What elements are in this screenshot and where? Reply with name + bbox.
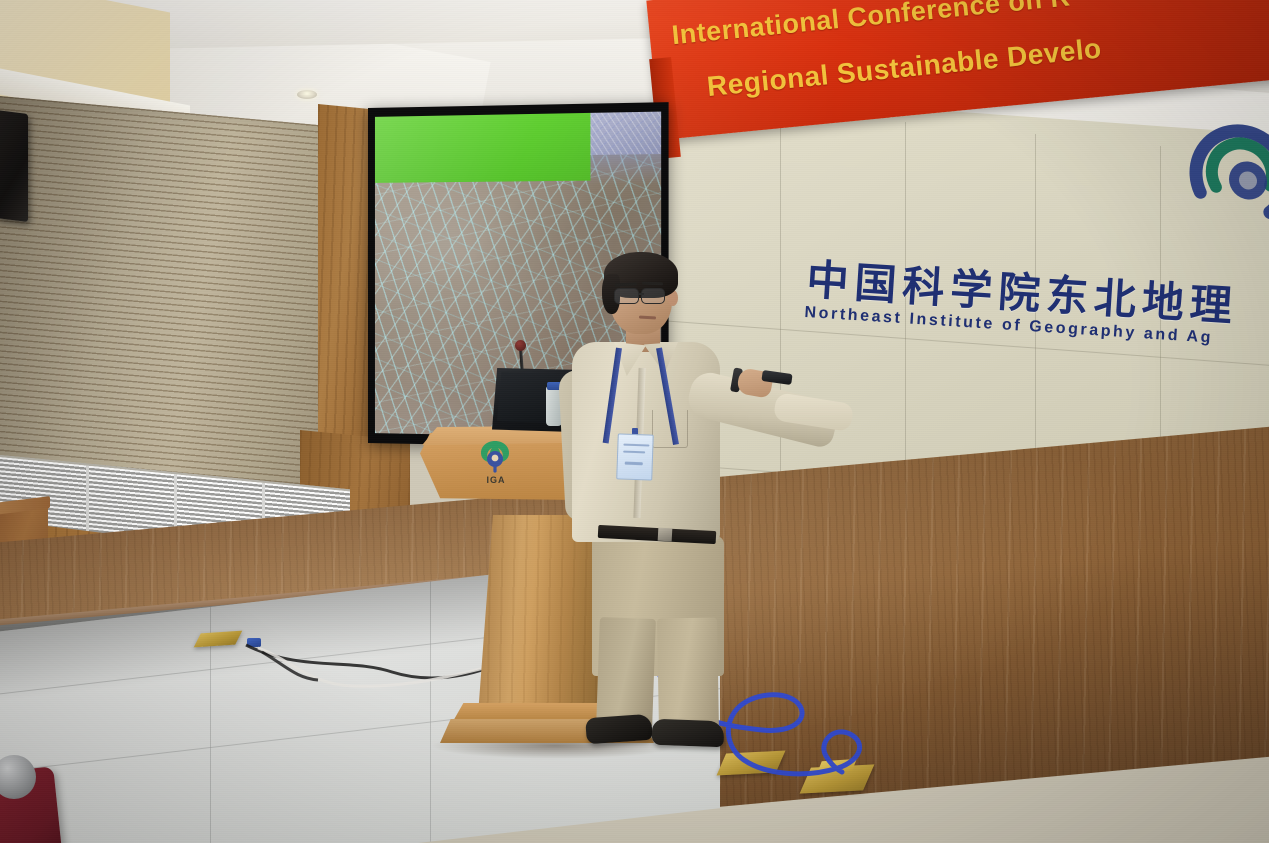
conference-name-badge: [616, 433, 654, 480]
downlight-icon: [297, 90, 317, 99]
belt-buckle: [658, 528, 673, 542]
iga-logo-icon: [478, 437, 512, 477]
eyeglasses-lens-left: [614, 288, 639, 304]
institute-emblem-icon: [1182, 114, 1269, 240]
microphone-icon: [515, 340, 526, 351]
iga-logo-text: IGA: [478, 475, 514, 485]
presenter-shoe-left: [585, 714, 653, 745]
badge-text-line: [623, 451, 645, 454]
conference-photo-scene: 中国科学院东北地理 Northeast Institute of Geograp…: [0, 0, 1269, 843]
slide-green-band: [375, 113, 591, 183]
badge-text-line: [625, 462, 643, 466]
badge-text-line: [623, 444, 649, 447]
eyeglasses-bridge: [638, 293, 644, 295]
presenter-leg-right: [657, 617, 719, 730]
slide-thumbnail: [591, 112, 661, 155]
presenter-leg-left: [596, 617, 656, 729]
wall-loudspeaker: [0, 110, 28, 222]
eyeglasses-lens-right: [641, 288, 665, 304]
floor-outlet-box: [717, 750, 786, 775]
cable-connector: [247, 638, 261, 647]
presenter-shoe-right: [652, 719, 725, 747]
presenter: [540, 250, 840, 690]
